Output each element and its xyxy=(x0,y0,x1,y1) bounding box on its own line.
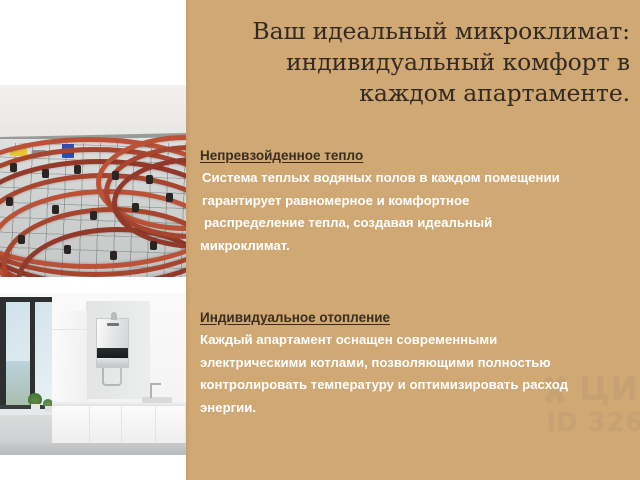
photo1-pipe-clip xyxy=(64,245,71,254)
photo2-faucet-spout xyxy=(150,383,161,385)
feature-heading-1: Непревзойденное тепло xyxy=(200,146,636,165)
photo2-base-cabinet xyxy=(52,406,90,444)
feature-body-2-line-2: электрическими котлами, позволяющими пол… xyxy=(200,352,636,375)
photo2-boiler-control-panel xyxy=(97,348,128,358)
photo1-pipe-clip xyxy=(42,169,49,178)
photo1-pipe-clip xyxy=(150,241,157,250)
feature-body-2: Каждый апартамент оснащен современными э… xyxy=(200,329,636,419)
photo1-pipe-clip xyxy=(52,205,59,214)
feature-block-underfloor-heating: Непревзойденное тепло Система теплых вод… xyxy=(200,146,636,257)
photo1-pipe-clip xyxy=(90,211,97,220)
feature-body-1-line-4: микроклимат. xyxy=(200,235,636,258)
photo1-pipe-clip xyxy=(110,251,117,260)
photo2-wall-boiler xyxy=(96,318,129,368)
photo-kitchen-with-boiler xyxy=(0,293,186,455)
photo2-boiler-flue xyxy=(111,312,117,320)
photo1-pipe-clip xyxy=(112,171,119,180)
photo2-window-view xyxy=(6,361,30,405)
photo2-plant-pot xyxy=(45,406,52,412)
photo1-pipe-loops xyxy=(0,85,186,277)
content-panel: Ваш идеальный микроклимат: индивидуальны… xyxy=(186,0,640,480)
feature-block-individual-heating: Индивидуальное отопление Каждый апартаме… xyxy=(200,308,636,419)
photo1-pipe-clip xyxy=(166,193,173,202)
page-title-line-1: Ваш идеальный микроклимат: xyxy=(194,16,630,47)
photo1-pipe-clip xyxy=(146,175,153,184)
photo1-pipe-clip xyxy=(10,163,17,172)
photo2-boiler-pipes xyxy=(102,368,122,386)
photo1-pipe-clip xyxy=(6,197,13,206)
photo2-window-frame-left xyxy=(0,297,6,409)
photo2-floor xyxy=(0,443,186,455)
photo2-base-cabinet xyxy=(90,406,122,444)
photo2-sink xyxy=(142,397,172,403)
feature-heading-2: Индивидуальное отопление xyxy=(200,308,636,327)
page-title-line-3: каждом апартаменте. xyxy=(194,78,630,109)
photo2-tall-cabinet xyxy=(52,311,88,403)
panel-left-edge xyxy=(186,0,189,480)
slide: Ваш идеальный микроклимат: индивидуальны… xyxy=(0,0,640,480)
feature-body-1-line-1: Система теплых водяных полов в каждом по… xyxy=(200,167,636,190)
page-title: Ваш идеальный микроклимат: индивидуальны… xyxy=(194,16,630,109)
feature-body-1-line-2: гарантирует равномерное и комфортное xyxy=(200,190,636,213)
page-title-line-2: индивидуальный комфорт в xyxy=(194,47,630,78)
photo-divider-gap xyxy=(0,277,186,293)
feature-body-1-line-3: распределение тепла, создавая идеальный xyxy=(200,212,636,235)
photo1-pipe-clip xyxy=(18,235,25,244)
feature-body-2-line-3: контролировать температуру и оптимизиров… xyxy=(200,374,636,397)
feature-body-1: Система теплых водяных полов в каждом по… xyxy=(200,167,636,257)
photo2-window-frame-top xyxy=(0,297,52,302)
photo2-plant-pot xyxy=(31,404,40,412)
photo2-faucet xyxy=(150,383,152,398)
photo1-pipe-clip xyxy=(74,165,81,174)
photo2-boiler-base xyxy=(97,359,128,367)
photo2-boiler-display xyxy=(107,323,119,326)
photo-underfloor-heating-pipes xyxy=(0,85,186,277)
photo1-pipe-clip xyxy=(132,203,139,212)
feature-body-2-line-4: энергии. xyxy=(200,397,636,420)
photo2-base-cabinet xyxy=(122,406,156,444)
photo2-cabinet-seam xyxy=(52,329,88,330)
photo2-base-cabinet xyxy=(156,406,186,444)
feature-body-2-line-1: Каждый апартамент оснащен современными xyxy=(200,329,636,352)
